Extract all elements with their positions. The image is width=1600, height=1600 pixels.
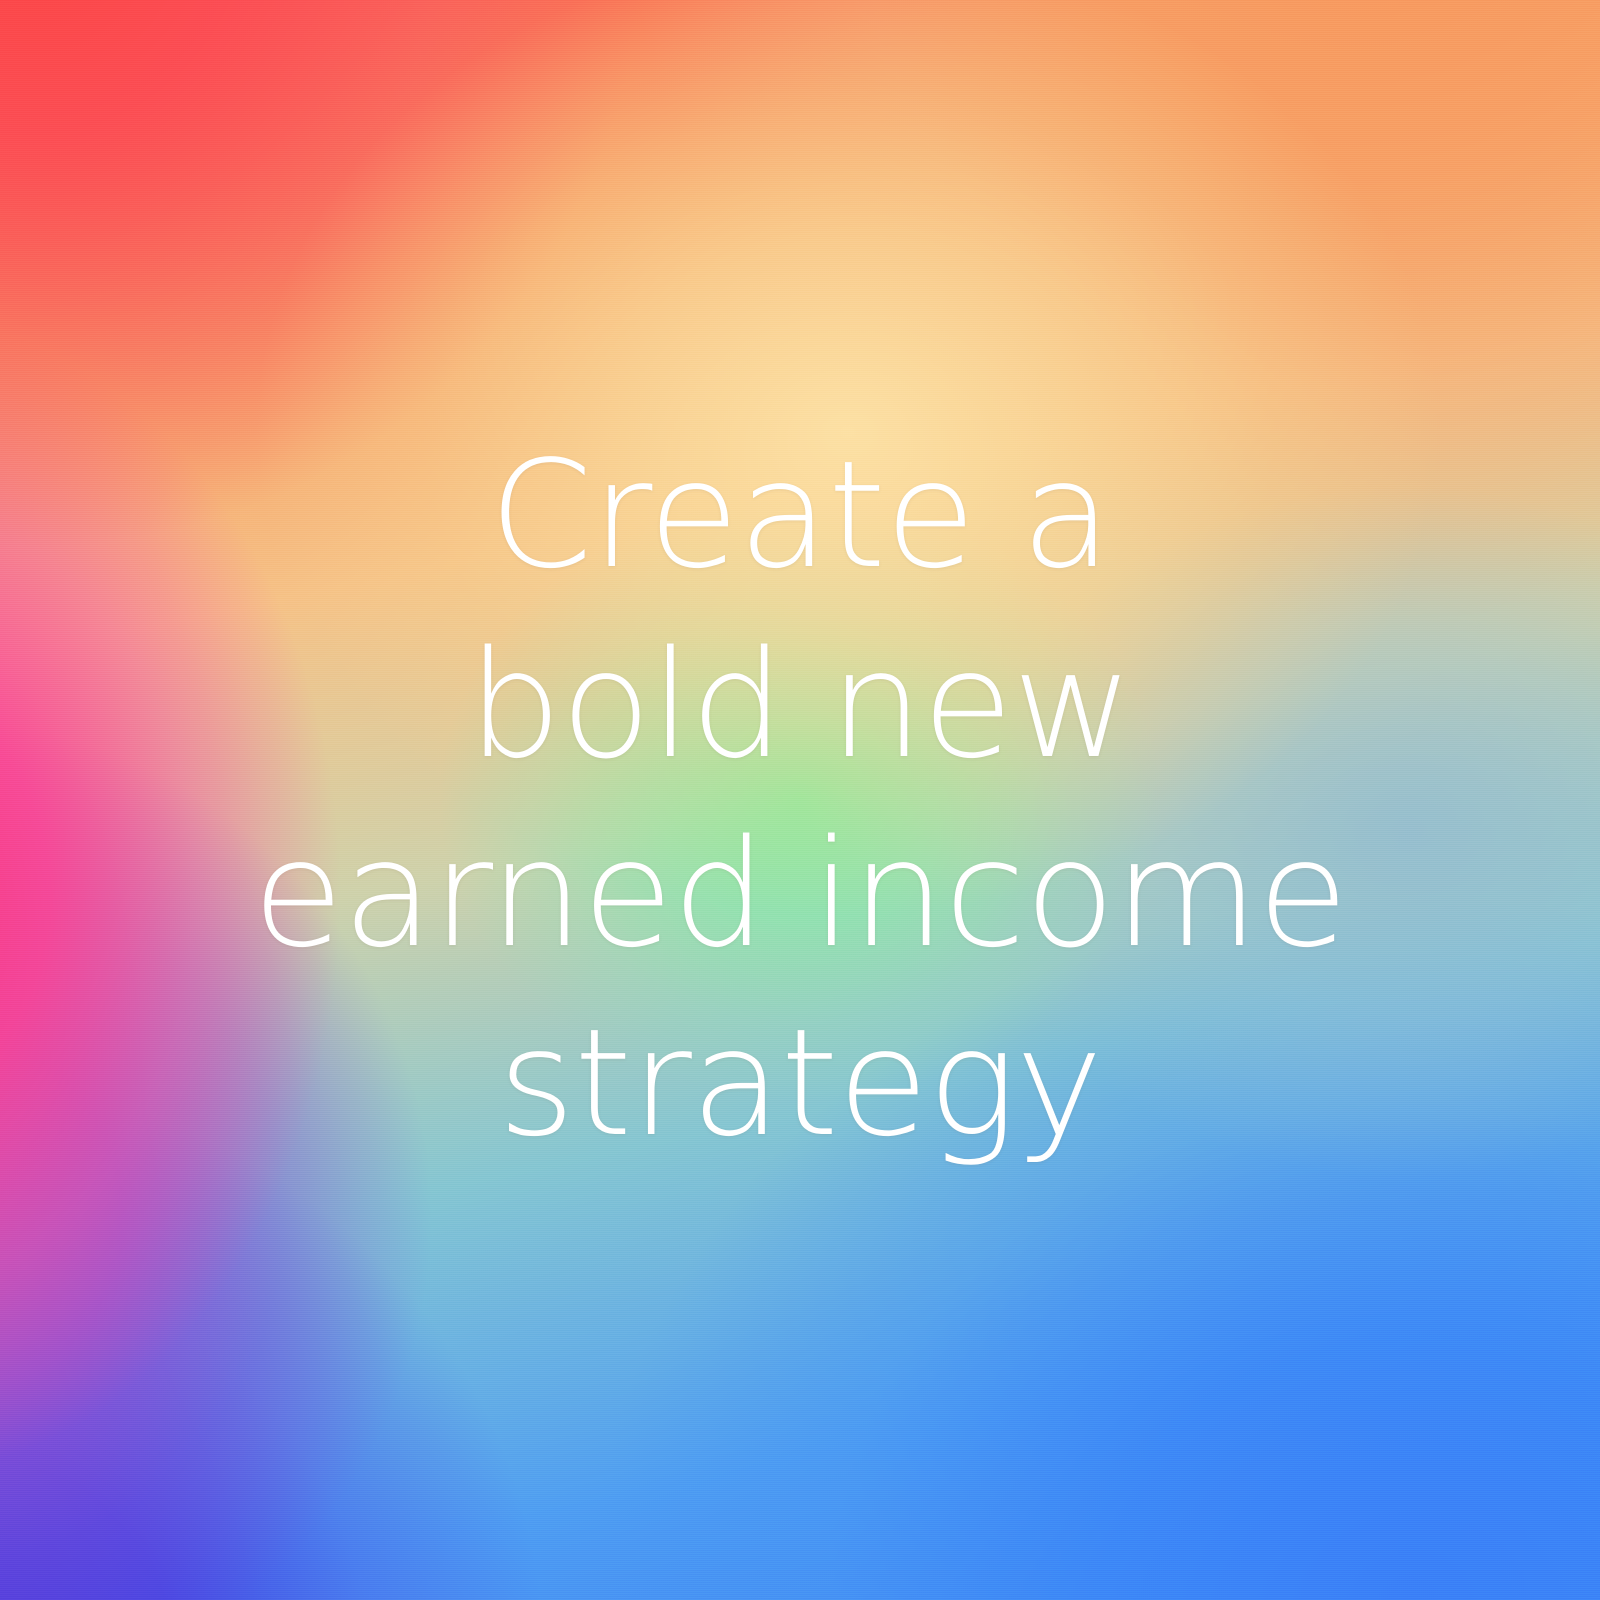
quote-line-4: strategy (498, 989, 1102, 1178)
gradient-quote-card: Create a bold new earned income strategy (0, 0, 1600, 1600)
quote-text-block: Create a bold new earned income strategy (0, 0, 1600, 1600)
quote-line-2: bold new (468, 611, 1133, 800)
quote-line-1: Create a (489, 421, 1111, 610)
quote-line-3: earned income (253, 800, 1348, 989)
